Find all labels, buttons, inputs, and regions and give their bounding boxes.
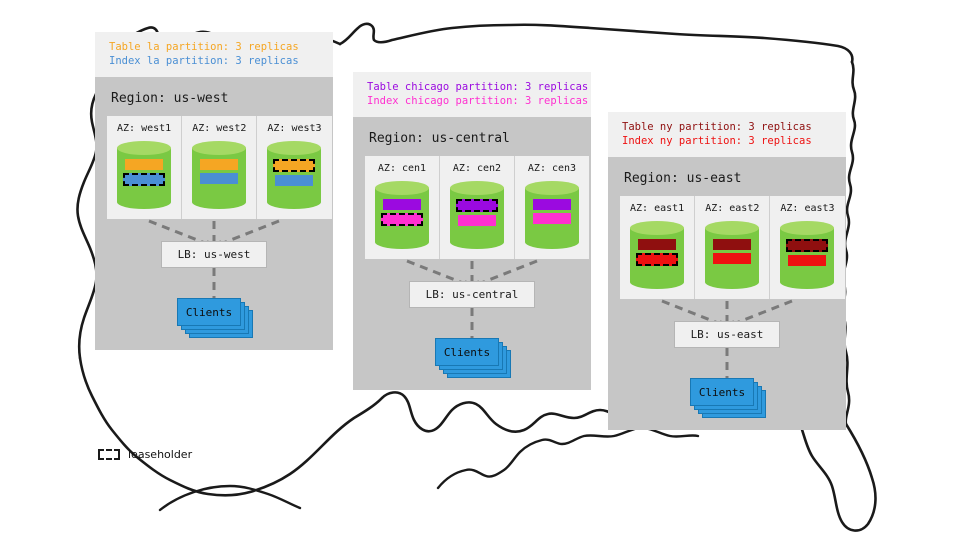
banner-line: Table la partition: 3 replicas	[109, 40, 319, 54]
az-label: AZ: west1	[117, 123, 171, 134]
replica-bar	[383, 199, 421, 210]
load-balancer-box[interactable]: LB: us-central	[409, 281, 536, 308]
region-body-us-central: Region: us-centralAZ: cen1AZ: cen2AZ: ce…	[353, 117, 591, 390]
legend: leaseholder	[98, 448, 192, 461]
az-cell[interactable]: AZ: east3	[770, 196, 844, 299]
clients-stack[interactable]: Clients	[690, 378, 764, 416]
replica-bar	[458, 215, 496, 226]
region-title: Region: us-east	[620, 167, 834, 196]
clients-wrap: Clients	[365, 338, 579, 376]
az-label: AZ: west2	[192, 123, 246, 134]
replica-bar-leaseholder	[123, 173, 165, 186]
database-cylinder-icon	[450, 181, 504, 249]
replica-bar	[125, 159, 163, 170]
region-banner-us-east: Table ny partition: 3 replicasIndex ny p…	[608, 112, 846, 157]
region-us-west: Table la partition: 3 replicasIndex la p…	[95, 32, 333, 350]
region-us-east: Table ny partition: 3 replicasIndex ny p…	[608, 112, 846, 430]
az-cell[interactable]: AZ: west3	[257, 116, 331, 219]
lb-to-clients-connector	[620, 348, 834, 378]
banner-line: Table ny partition: 3 replicas	[622, 120, 832, 134]
database-cylinder-icon	[267, 141, 321, 209]
replica-bar	[788, 255, 826, 266]
replica-bar	[638, 239, 676, 250]
replica-bar	[713, 239, 751, 250]
region-us-central: Table chicago partition: 3 replicasIndex…	[353, 72, 591, 390]
replica-bar	[275, 175, 313, 186]
replica-bar	[200, 159, 238, 170]
region-title: Region: us-west	[107, 87, 321, 116]
az-cell[interactable]: AZ: west2	[182, 116, 257, 219]
database-cylinder-icon	[705, 221, 759, 289]
az-label: AZ: east2	[705, 203, 759, 214]
lb-to-clients-connector	[107, 268, 321, 298]
az-label: AZ: cen2	[453, 163, 501, 174]
region-body-us-east: Region: us-eastAZ: east1AZ: east2AZ: eas…	[608, 157, 846, 430]
az-cell[interactable]: AZ: west1	[107, 116, 182, 219]
load-balancer-wrap: LB: us-east	[620, 321, 834, 348]
replica-bar-leaseholder	[381, 213, 423, 226]
region-body-us-west: Region: us-westAZ: west1AZ: west2AZ: wes…	[95, 77, 333, 350]
clients-wrap: Clients	[620, 378, 834, 416]
clients-stack[interactable]: Clients	[177, 298, 251, 336]
database-cylinder-icon	[117, 141, 171, 209]
leaseholder-swatch-icon	[98, 449, 120, 460]
replica-bar-leaseholder	[636, 253, 678, 266]
az-row: AZ: west1AZ: west2AZ: west3	[107, 116, 321, 219]
load-balancer-box[interactable]: LB: us-west	[161, 241, 268, 268]
clients-wrap: Clients	[107, 298, 321, 336]
banner-line: Index la partition: 3 replicas	[109, 54, 319, 68]
replica-bar-leaseholder	[786, 239, 828, 252]
az-cell[interactable]: AZ: cen3	[515, 156, 589, 259]
database-cylinder-icon	[192, 141, 246, 209]
region-title: Region: us-central	[365, 127, 579, 156]
region-banner-us-central: Table chicago partition: 3 replicasIndex…	[353, 72, 591, 117]
banner-line: Index chicago partition: 3 replicas	[367, 94, 577, 108]
clients-stack[interactable]: Clients	[435, 338, 509, 376]
az-cell[interactable]: AZ: cen1	[365, 156, 440, 259]
database-cylinder-icon	[630, 221, 684, 289]
database-cylinder-icon	[375, 181, 429, 249]
replica-bar-leaseholder	[456, 199, 498, 212]
load-balancer-wrap: LB: us-west	[107, 241, 321, 268]
clients-label: Clients	[699, 386, 745, 399]
clients-label: Clients	[186, 306, 232, 319]
az-label: AZ: west3	[267, 123, 321, 134]
banner-line: Index ny partition: 3 replicas	[622, 134, 832, 148]
lb-to-clients-connector	[365, 308, 579, 338]
replica-bar	[533, 213, 571, 224]
replica-bar	[200, 173, 238, 184]
az-label: AZ: cen3	[528, 163, 576, 174]
replica-bar	[533, 199, 571, 210]
database-cylinder-icon	[525, 181, 579, 249]
az-row: AZ: cen1AZ: cen2AZ: cen3	[365, 156, 579, 259]
az-cell[interactable]: AZ: east1	[620, 196, 695, 299]
az-label: AZ: east1	[630, 203, 684, 214]
replica-bar-leaseholder	[273, 159, 315, 172]
banner-line: Table chicago partition: 3 replicas	[367, 80, 577, 94]
az-label: AZ: east3	[780, 203, 834, 214]
replica-bar	[713, 253, 751, 264]
legend-label: leaseholder	[128, 448, 192, 461]
clients-label: Clients	[444, 346, 490, 359]
load-balancer-box[interactable]: LB: us-east	[674, 321, 781, 348]
load-balancer-wrap: LB: us-central	[365, 281, 579, 308]
az-cell[interactable]: AZ: cen2	[440, 156, 515, 259]
database-cylinder-icon	[780, 221, 834, 289]
az-row: AZ: east1AZ: east2AZ: east3	[620, 196, 834, 299]
az-label: AZ: cen1	[378, 163, 426, 174]
az-cell[interactable]: AZ: east2	[695, 196, 770, 299]
region-banner-us-west: Table la partition: 3 replicasIndex la p…	[95, 32, 333, 77]
